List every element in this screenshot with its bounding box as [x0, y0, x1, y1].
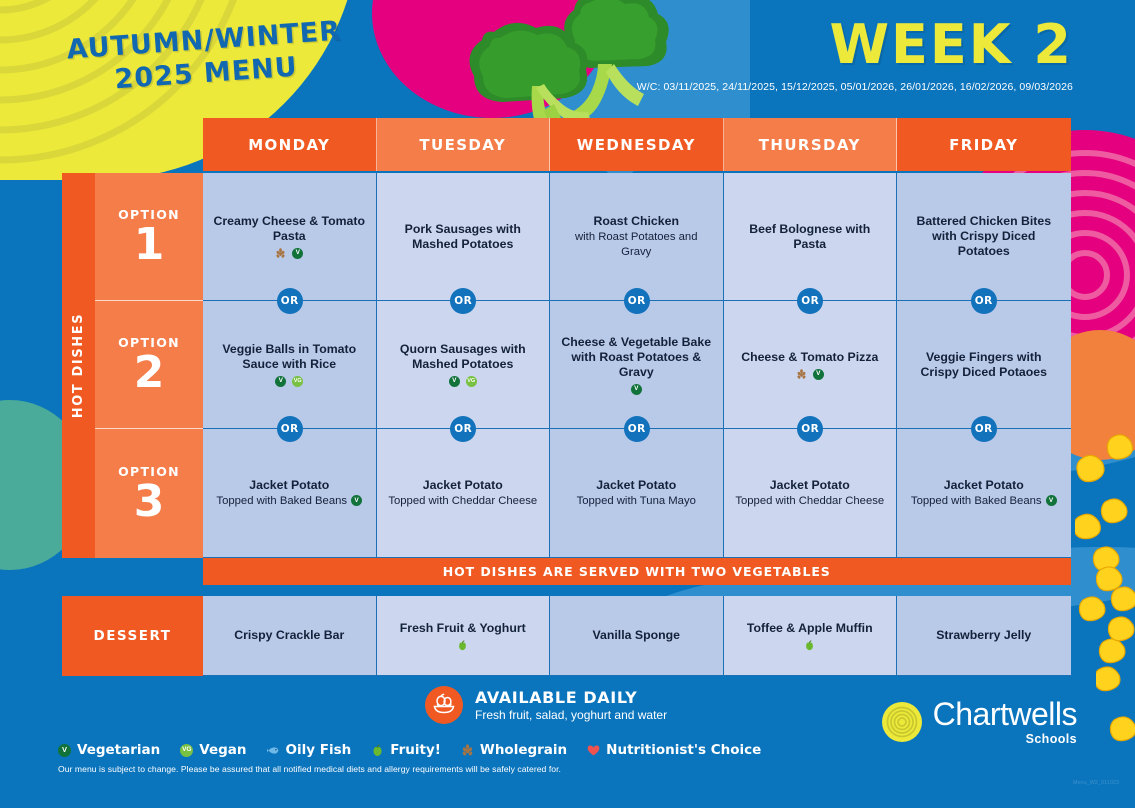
menu-cell[interactable]: Battered Chicken Bites with Crispy Diced… — [897, 173, 1071, 301]
fruit-bowl-icon — [425, 686, 463, 724]
dietary-badges: V — [275, 248, 303, 259]
dish-name: Jacket Potato — [770, 478, 850, 493]
menu-cell[interactable]: Veggie Fingers with Crispy Diced Potaoes — [897, 301, 1071, 429]
option-label-2: OPTION2 — [95, 301, 203, 429]
menu-poster: AUTUMN/WINTER 2025 MENU WEEK 2 W/C: 03/1… — [0, 0, 1135, 808]
dessert-name: Fresh Fruit & Yoghurt — [400, 621, 526, 636]
legend-item-oilyfish: Oily Fish — [267, 742, 352, 758]
vegetarian-icon: V — [449, 376, 460, 387]
dish-name: Jacket Potato — [596, 478, 676, 493]
option-number: 1 — [134, 224, 165, 266]
dessert-cell[interactable]: Fresh Fruit & Yoghurt — [377, 596, 551, 676]
vegetarian-icon: V — [292, 248, 303, 259]
day-header-monday: MONDAY — [203, 118, 377, 171]
dessert-cell[interactable]: Strawberry Jelly — [897, 596, 1071, 676]
day-header-row: MONDAYTUESDAYWEDNESDAYTHURSDAYFRIDAY — [203, 118, 1071, 171]
option-label-3: OPTION3 — [95, 429, 203, 558]
week-commencing-dates: W/C: 03/11/2025, 24/11/2025, 15/12/2025,… — [637, 81, 1073, 93]
menu-cell[interactable]: Beef Bolognese with Pasta — [724, 173, 898, 301]
dish-name: Jacket Potato — [423, 478, 503, 493]
disclaimer-text: Our menu is subject to change. Please be… — [58, 764, 561, 774]
vegetarian-icon: V — [1046, 495, 1057, 506]
vegetables-banner-text: HOT DISHES ARE SERVED WITH TWO VEGETABLE… — [443, 564, 831, 579]
legend-label: Wholegrain — [480, 742, 567, 758]
oily-fish-icon — [267, 744, 280, 757]
logo-subtitle: Schools — [933, 732, 1077, 746]
dessert-row: DESSERT Crispy Crackle BarFresh Fruit & … — [62, 596, 1071, 676]
vegetables-banner: HOT DISHES ARE SERVED WITH TWO VEGETABLE… — [203, 558, 1071, 585]
dish-name: Cheese & Tomato Pizza — [741, 350, 878, 365]
fruity-icon — [371, 744, 384, 757]
available-daily-subtitle: Fresh fruit, salad, yoghurt and water — [475, 708, 667, 722]
option-row-3: Jacket PotatoTopped with Baked BeansVJac… — [203, 429, 1071, 558]
day-header-friday: FRIDAY — [897, 118, 1071, 171]
option-label-1: OPTION1 — [95, 173, 203, 301]
sweetcorn-decoration — [1096, 560, 1135, 800]
menu-cell[interactable]: Quorn Sausages with Mashed PotatoesVVG — [377, 301, 551, 429]
fruity-icon — [457, 640, 468, 651]
option-row-2: Veggie Balls in Tomato Sauce with RiceVV… — [203, 301, 1071, 429]
or-badge: OR — [277, 416, 303, 442]
vegetarian-icon: V — [351, 495, 362, 506]
dessert-label-text: DESSERT — [94, 628, 172, 644]
dietary-badges — [457, 640, 468, 651]
vegetarian-icon: V — [631, 384, 642, 395]
menu-title: AUTUMN/WINTER 2025 MENU — [53, 14, 357, 102]
vegetarian-icon: V — [275, 376, 286, 387]
legend-item-wholegrain: Wholegrain — [461, 742, 567, 758]
vegan-icon: VG — [180, 744, 193, 757]
vegetarian-icon: V — [58, 744, 71, 757]
day-header-wednesday: WEDNESDAY — [550, 118, 724, 171]
legend-label: Vegetarian — [77, 742, 160, 758]
dish-name: Pork Sausages with Mashed Potatoes — [386, 222, 541, 252]
nutritionists-choice-icon — [587, 744, 600, 757]
dietary-badges: V — [796, 369, 824, 380]
hot-dishes-label-text: HOT DISHES — [71, 313, 86, 418]
dish-name: Veggie Fingers with Crispy Diced Potaoes — [906, 350, 1062, 380]
wholegrain-icon — [275, 248, 286, 259]
menu-cell[interactable]: Cheese & Tomato PizzaV — [724, 301, 898, 429]
dessert-cell[interactable]: Vanilla Sponge — [550, 596, 724, 676]
dish-description: Topped with Baked BeansV — [911, 494, 1057, 508]
dietary-badges: VVG — [275, 376, 303, 387]
dish-description: Topped with Cheddar Cheese — [388, 494, 537, 508]
dietary-badges: VVG — [449, 376, 477, 387]
or-badge: OR — [971, 416, 997, 442]
menu-cell[interactable]: Jacket PotatoTopped with Baked BeansV — [203, 429, 377, 558]
dessert-label: DESSERT — [62, 596, 203, 676]
vegan-icon: VG — [466, 376, 477, 387]
dietary-badges: V — [351, 495, 362, 506]
available-daily: AVAILABLE DAILY Fresh fruit, salad, yogh… — [425, 686, 667, 724]
dish-name: Jacket Potato — [249, 478, 329, 493]
week-label: WEEK 2 — [637, 18, 1073, 72]
dish-name: Battered Chicken Bites with Crispy Diced… — [906, 214, 1062, 259]
legend-item-vegetarian: VVegetarian — [58, 742, 160, 758]
dessert-name: Strawberry Jelly — [936, 628, 1031, 643]
dessert-name: Vanilla Sponge — [593, 628, 680, 643]
menu-cell[interactable]: Jacket PotatoTopped with Cheddar Cheese — [724, 429, 898, 558]
dish-name: Beef Bolognese with Pasta — [733, 222, 888, 252]
option-number: 2 — [134, 352, 165, 394]
legend-item-nutritionist: Nutritionist's Choice — [587, 742, 761, 758]
legend-label: Oily Fish — [286, 742, 352, 758]
menu-cell[interactable]: Jacket PotatoTopped with Baked BeansV — [897, 429, 1071, 558]
or-badge: OR — [624, 416, 650, 442]
chartwells-mark-icon — [881, 701, 923, 743]
or-badge: OR — [971, 288, 997, 314]
or-badge: OR — [277, 288, 303, 314]
menu-grid: Creamy Cheese & Tomato PastaVPork Sausag… — [203, 173, 1071, 558]
wholegrain-icon — [796, 369, 807, 380]
logo-name: Chartwells — [933, 698, 1077, 730]
dietary-badges: V — [631, 384, 642, 395]
dish-description: with Roast Potatoes and Gravy — [559, 230, 714, 258]
dietary-badges: V — [1046, 495, 1057, 506]
dessert-name: Crispy Crackle Bar — [234, 628, 344, 643]
or-badge: OR — [624, 288, 650, 314]
dish-description: Topped with Tuna Mayo — [577, 494, 696, 508]
day-header-thursday: THURSDAY — [724, 118, 898, 171]
dessert-cell[interactable]: Toffee & Apple Muffin — [724, 596, 898, 676]
dish-name: Cheese & Vegetable Bake with Roast Potat… — [559, 335, 714, 380]
option-label-column: OPTION1OPTION2OPTION3 — [95, 173, 203, 558]
fruity-icon — [804, 640, 815, 651]
dish-description: Topped with Cheddar Cheese — [735, 494, 884, 508]
menu-cell[interactable]: Veggie Balls in Tomato Sauce with RiceVV… — [203, 301, 377, 429]
dish-name: Creamy Cheese & Tomato Pasta — [212, 214, 367, 244]
dessert-cell[interactable]: Crispy Crackle Bar — [203, 596, 377, 676]
menu-cell[interactable]: Jacket PotatoTopped with Cheddar Cheese — [377, 429, 551, 558]
dish-name: Jacket Potato — [944, 478, 1024, 493]
legend-label: Vegan — [199, 742, 246, 758]
dish-name: Veggie Balls in Tomato Sauce with Rice — [212, 342, 367, 372]
menu-code: Menu_W2_011023 — [1073, 780, 1119, 786]
available-daily-title: AVAILABLE DAILY — [475, 688, 667, 707]
legend-label: Fruity! — [390, 742, 441, 758]
option-number: 3 — [134, 481, 165, 523]
chartwells-logo: Chartwells Schools — [881, 698, 1077, 746]
vegan-icon: VG — [292, 376, 303, 387]
dietary-badges — [804, 640, 815, 651]
vegetarian-icon: V — [813, 369, 824, 380]
menu-cell[interactable]: Creamy Cheese & Tomato PastaV — [203, 173, 377, 301]
menu-cell[interactable]: Pork Sausages with Mashed Potatoes — [377, 173, 551, 301]
day-header-tuesday: TUESDAY — [377, 118, 551, 171]
wholegrain-icon — [461, 744, 474, 757]
menu-cell[interactable]: Cheese & Vegetable Bake with Roast Potat… — [550, 301, 724, 429]
legend: VVegetarianVGVeganOily FishFruity!Wholeg… — [58, 742, 761, 758]
legend-label: Nutritionist's Choice — [606, 742, 761, 758]
option-row-1: Creamy Cheese & Tomato PastaVPork Sausag… — [203, 173, 1071, 301]
hot-dishes-label: HOT DISHES — [62, 173, 95, 558]
week-header: WEEK 2 W/C: 03/11/2025, 24/11/2025, 15/1… — [637, 18, 1073, 93]
dessert-name: Toffee & Apple Muffin — [747, 621, 873, 636]
dessert-cells: Crispy Crackle BarFresh Fruit & YoghurtV… — [203, 596, 1071, 676]
legend-item-fruity: Fruity! — [371, 742, 441, 758]
dish-description: Topped with Baked BeansV — [216, 494, 362, 508]
dish-name: Roast Chicken — [594, 214, 679, 229]
menu-cell[interactable]: Jacket PotatoTopped with Tuna Mayo — [550, 429, 724, 558]
menu-cell[interactable]: Roast Chickenwith Roast Potatoes and Gra… — [550, 173, 724, 301]
pink-circle-decoration — [372, 0, 612, 118]
legend-item-vegan: VGVegan — [180, 742, 246, 758]
dish-name: Quorn Sausages with Mashed Potatoes — [386, 342, 541, 372]
